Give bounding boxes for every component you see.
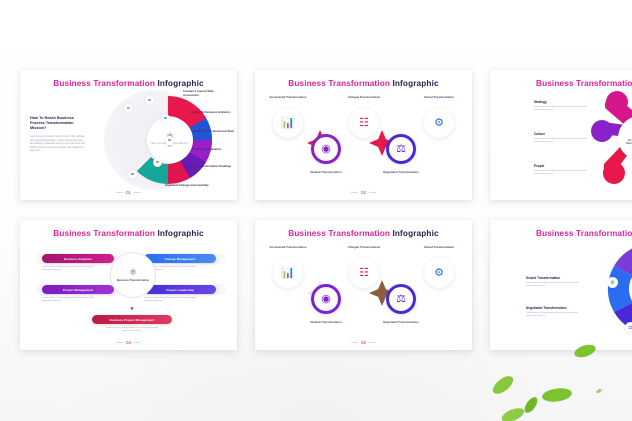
arrow-icon: ➤	[129, 306, 134, 310]
transformation-body: Lorem ipsum is simply dummy text of the …	[526, 282, 584, 288]
slide-4-center: ⚛ Business Transformation	[110, 252, 156, 298]
dimension-body: Lorem ipsum is simply dummy text of the …	[534, 138, 586, 144]
segment-label: Develop a Transformation Roadmap	[185, 165, 231, 169]
half-donut-chart: ⚛ Steps You Can Take To Embark On a BPT …	[120, 88, 230, 192]
pill-label: Business Analytics	[64, 257, 92, 261]
segment-badge[interactable]: 01	[124, 104, 133, 113]
segment-label: Technology Evaluation	[192, 148, 237, 152]
slide-page-number: 06	[536, 340, 632, 345]
node-circle-accent[interactable]: ⚖	[386, 134, 416, 164]
node-label: Negotiated Transformation	[378, 171, 424, 175]
segment-badge[interactable]: 04	[165, 136, 174, 145]
title-primary: Business Transformation	[288, 79, 390, 88]
pill-project-management[interactable]: Project Management	[42, 285, 114, 294]
node-circle[interactable]: ⚙	[424, 108, 454, 138]
pill-project-leadership[interactable]: Project Leadership	[144, 285, 216, 294]
dimension-label: People	[534, 164, 586, 168]
slide-2[interactable]: Business Transformation Infographic Incr…	[255, 70, 472, 200]
title-secondary: Infographic	[157, 229, 203, 238]
slide-title: Business Transformation Infographic	[255, 79, 472, 88]
node-label: Incremental Transformation	[265, 96, 311, 100]
node-label: Charged Transformation	[341, 246, 387, 250]
pill-body: Lorem ipsum is simply dummy text of the …	[42, 266, 104, 272]
slide-page-number: 04	[20, 340, 237, 345]
node-circle-accent[interactable]: ◉	[311, 134, 341, 164]
pill-business-project-management[interactable]: Business Project Management	[92, 315, 172, 324]
node-label: Charged Transformation	[341, 96, 387, 100]
network-nodes-icon: ☷	[359, 268, 369, 279]
slide-4[interactable]: Business Transformation Infographic Busi…	[20, 220, 237, 350]
pill-label: Project Management	[63, 288, 93, 292]
blade-badge[interactable]: ⚖	[625, 322, 632, 333]
slide-5[interactable]: Business Transformation Infographic Incr…	[255, 220, 472, 350]
segment-label: Set Key Performance Indicators	[190, 111, 236, 115]
target-gear-icon: ◉	[321, 144, 331, 155]
target-gear-icon: ◉	[321, 294, 331, 305]
node-circle-accent[interactable]: ⚖	[386, 284, 416, 314]
segment-badge[interactable]: 02	[145, 96, 154, 105]
segment-badge[interactable]: 03	[161, 114, 170, 123]
slide-page-number: 05	[255, 340, 472, 345]
transformation-label: Negotiated Transformation	[526, 306, 584, 310]
title-primary: Business Transformation	[53, 79, 155, 88]
node-circle[interactable]: 📊	[273, 108, 303, 138]
monitor-chart-icon: 📊	[281, 268, 295, 279]
page-background	[0, 0, 632, 421]
slide-title: Business Transformation Infographic	[255, 229, 472, 238]
diagram-center-caption: The Six Dimensions Of Business Transform…	[623, 140, 632, 146]
transformation-row: Negotiated Transformation Lorem ipsum is…	[526, 306, 584, 318]
dimension-body: Lorem ipsum is simply dummy text of the …	[534, 106, 586, 112]
transformation-row: Seized Transformation Lorem ipsum is sim…	[526, 276, 584, 288]
title-primary: Business Transformation	[288, 229, 390, 238]
node-circle-accent[interactable]: ◉	[311, 284, 341, 314]
slide-row-top: Business Transformation Infographic How …	[20, 70, 632, 200]
network-nodes-icon: ☷	[359, 118, 369, 129]
segment-label: Create a Cross-Functional Team	[193, 130, 237, 134]
pill-body: Lorem ipsum is simply dummy text of the …	[144, 297, 206, 303]
slide-6[interactable]: Business Transformation Infographic ☺	[490, 220, 632, 350]
gear-person-icon: ⚙	[434, 268, 444, 279]
blade-badge[interactable]: ⚙	[607, 277, 618, 288]
pill-business-analytics[interactable]: Business Analytics	[42, 254, 114, 263]
pill-label: Project Leadership	[166, 288, 194, 292]
node-label: Incremental Transformation	[265, 246, 311, 250]
node-label: Negotiated Transformation	[378, 321, 424, 325]
pinwheel-diagram: ☺ ⚙ ⚖ 👥	[595, 234, 632, 344]
node-circle[interactable]: ☷	[349, 108, 379, 138]
slide-page-number: 01	[20, 190, 237, 195]
transformation-label: Seized Transformation	[526, 276, 584, 280]
pill-change-management[interactable]: Change Management	[144, 254, 216, 263]
slide-title: Business Transformation Infographic	[20, 229, 237, 238]
dimension-row: Culture Lorem ipsum is simply dummy text…	[534, 132, 586, 144]
node-circle[interactable]: ☷	[349, 258, 379, 288]
gear-person-icon: ⚙	[434, 118, 444, 129]
dimension-row: People Lorem ipsum is simply dummy text …	[534, 164, 586, 176]
title-secondary: Infographic	[157, 79, 203, 88]
title-secondary: Infographic	[392, 79, 438, 88]
slide-1-text-block: How To Reach Business Process Transforma…	[30, 116, 88, 153]
monitor-chart-icon: 📊	[281, 118, 295, 129]
org-chart-icon: ⚖	[628, 325, 632, 331]
segment-badge[interactable]: 05	[153, 158, 162, 167]
dimension-row: Strategy Lorem ipsum is simply dummy tex…	[534, 100, 586, 112]
org-chart-icon: ⚖	[396, 144, 406, 155]
node-circle[interactable]: 📊	[273, 258, 303, 288]
node-label: Seized Transformation	[416, 96, 462, 100]
org-chart-icon: ⚖	[396, 294, 406, 305]
fingerprint-icon: ⚛	[129, 268, 137, 277]
title-secondary: Infographic	[392, 229, 438, 238]
pill-label: Change Management	[165, 257, 196, 261]
slide-1-heading: How To Reach Business Process Transforma…	[30, 116, 88, 131]
dimension-label: Culture	[534, 132, 586, 136]
title-primary: Business Transformation	[53, 229, 155, 238]
slide-3[interactable]: Business Transformation Infographic	[490, 70, 632, 200]
gear-person-icon: ⚙	[610, 280, 614, 286]
center-label: Business Transformation	[117, 279, 149, 282]
node-label: Radical Transformation	[303, 321, 349, 325]
slide-title: Business Transformation Infographic	[20, 79, 237, 88]
dimension-label: Strategy	[534, 100, 586, 104]
pill-body: Lorem ipsum is simply dummy text of the …	[42, 297, 104, 303]
slide-row-bottom: Business Transformation Infographic Busi…	[20, 220, 632, 350]
slide-1-body: Lorem ipsum is simply dummy text of the …	[30, 135, 86, 153]
node-label: Radical Transformation	[303, 171, 349, 175]
segment-badge[interactable]: 06	[128, 170, 137, 179]
node-circle[interactable]: ⚙	[424, 258, 454, 288]
transformation-body: Lorem ipsum is simply dummy text of the …	[526, 312, 584, 318]
segment-label: Implement Changes Incrementally	[165, 184, 211, 188]
pill-body: Lorem ipsum is simply dummy text of the …	[101, 327, 163, 333]
slide-1[interactable]: Business Transformation Infographic How …	[20, 70, 237, 200]
node-label: Seized Transformation	[416, 246, 462, 250]
slide-page-number: 03	[536, 190, 632, 195]
dimension-body: Lorem ipsum is simply dummy text of the …	[534, 170, 586, 176]
segment-label: Conduct a Current State Assessment	[183, 90, 229, 97]
slide-page-number: 02	[255, 190, 472, 195]
pill-label: Business Project Management	[110, 318, 155, 322]
